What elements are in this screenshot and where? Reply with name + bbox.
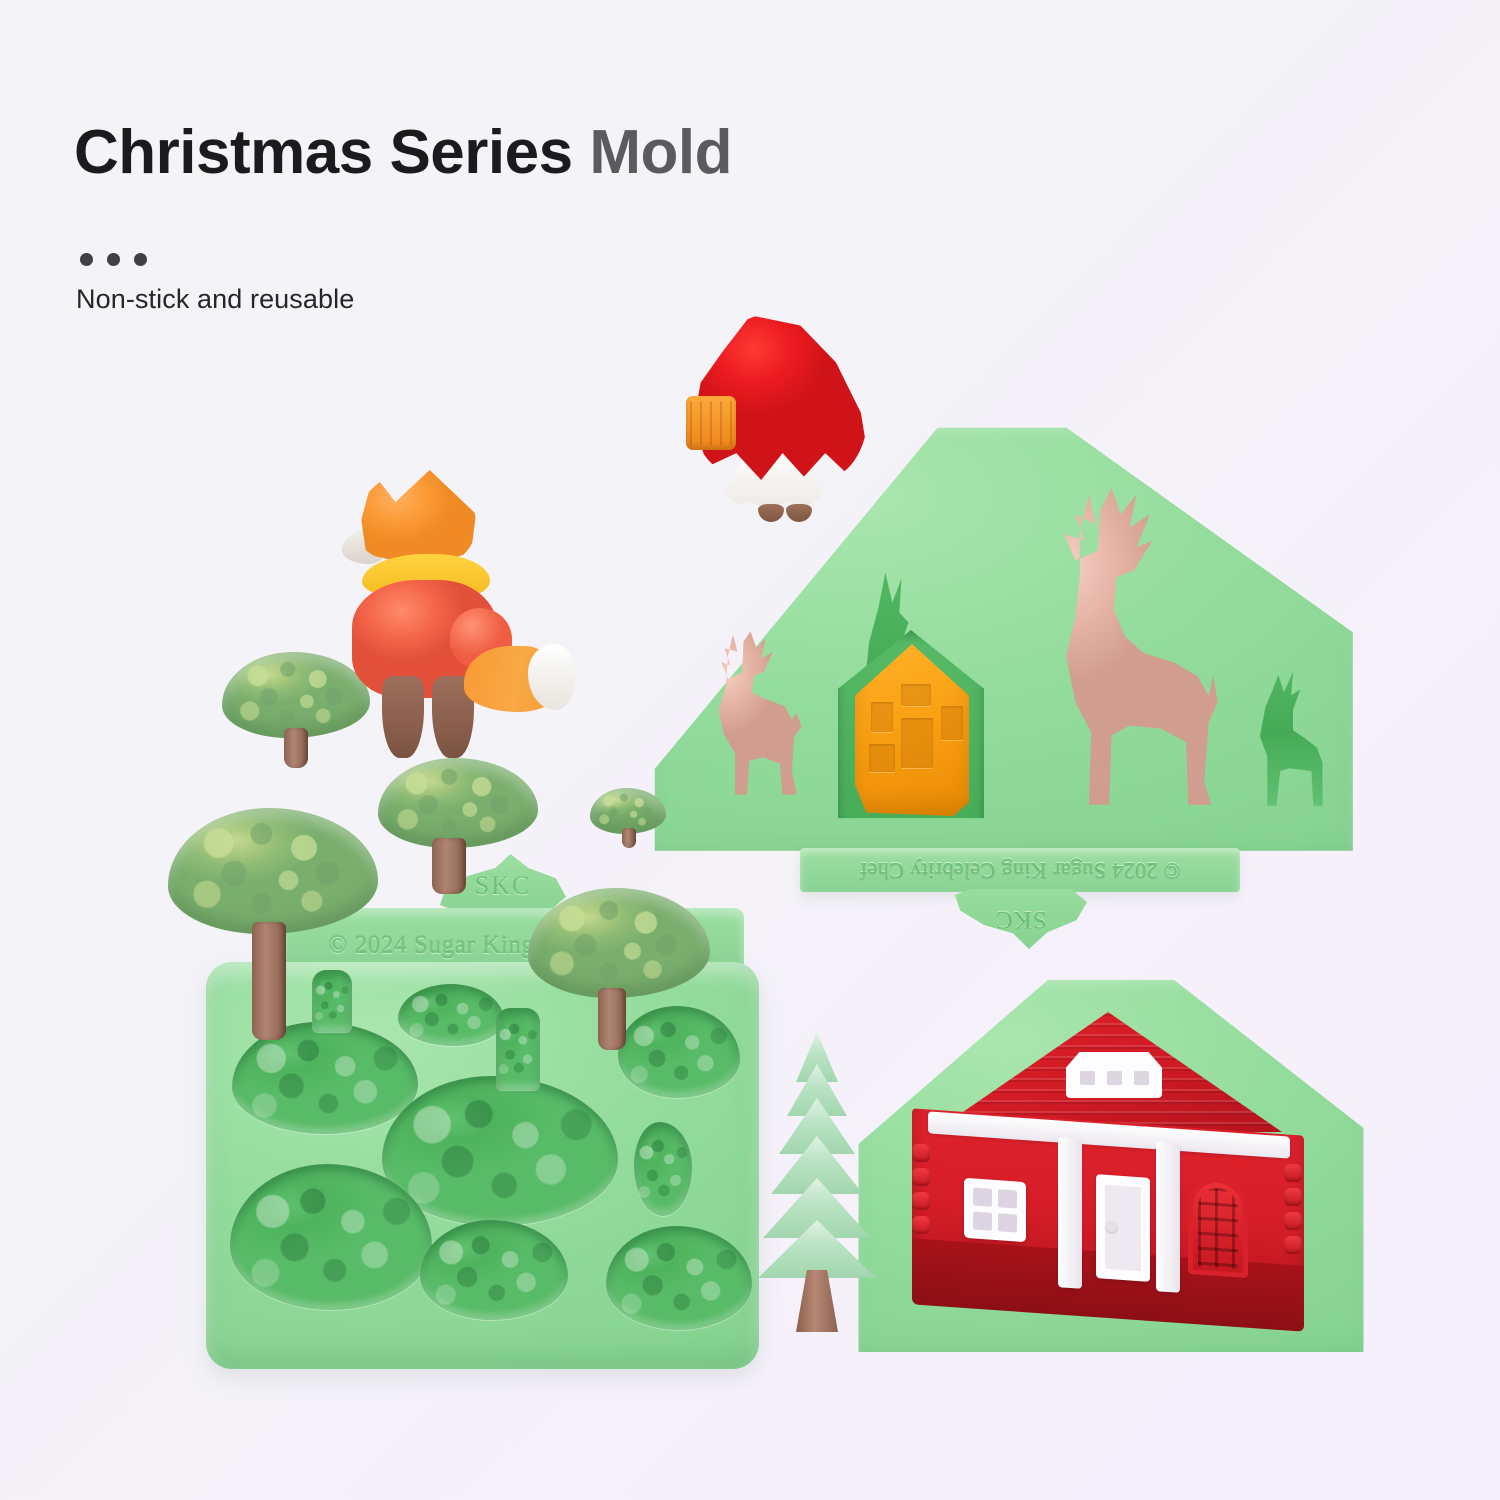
leafy-tree-tiny <box>590 788 666 850</box>
fox-head <box>354 468 476 568</box>
cabin-porch-post <box>1156 1141 1180 1293</box>
page-subtitle: Non-stick and reusable <box>76 284 1074 315</box>
cavity-fawn <box>1236 666 1328 812</box>
cabin-porch-post <box>1058 1137 1082 1289</box>
header: Christmas Series Mold Non-stick and reus… <box>74 120 1074 315</box>
dot-icon <box>134 253 147 266</box>
fir-tree <box>758 1032 876 1332</box>
cavity-bush-bottom-left <box>230 1164 432 1310</box>
cabin-square-window <box>964 1178 1026 1242</box>
page-title-main: Christmas Series <box>74 118 573 187</box>
orange-house-figure <box>855 644 969 816</box>
window-pane <box>973 1211 992 1230</box>
small-stag-shape <box>688 628 806 798</box>
gable-vent-slot <box>1107 1071 1122 1085</box>
cabin-log-end <box>1284 1188 1302 1206</box>
gable-vent-slot <box>1080 1071 1095 1085</box>
window-pane <box>973 1187 992 1206</box>
tree-trunk <box>598 988 626 1050</box>
fir-trunk <box>796 1270 838 1332</box>
hood-shoe <box>758 504 784 522</box>
hood-shoe <box>786 504 812 522</box>
deer-mold-brand-tab: © 2024 Sugar King Celebrity Chef <box>800 848 1240 892</box>
deer-mold-brand-text: © 2024 Sugar King Celebrity Chef <box>800 848 1240 892</box>
tree-trunk <box>284 728 308 768</box>
tree-canopy <box>168 808 378 934</box>
cabin-log-end <box>1284 1164 1302 1182</box>
orange-house-door <box>901 718 933 768</box>
cavity-fir-sliver <box>634 1122 692 1216</box>
page-title: Christmas Series Mold <box>74 120 1074 185</box>
leafy-tree-medium <box>378 758 538 898</box>
cabin-log-end <box>1284 1236 1302 1254</box>
cabin-gable-vent <box>1066 1052 1162 1098</box>
cabin-door <box>1096 1174 1150 1282</box>
fawn-shape <box>1236 666 1328 812</box>
tree-canopy <box>378 758 538 848</box>
dot-separator <box>80 253 1074 266</box>
gable-vent-slot <box>1134 1071 1149 1085</box>
cavity-bush-bottom-right <box>606 1226 752 1330</box>
deer-mold-skc-text: SKC <box>995 905 1047 933</box>
red-riding-hood-character <box>684 312 874 520</box>
leafy-tree-right <box>528 888 710 1054</box>
hood-basket <box>686 396 736 450</box>
cabin-log-end <box>1284 1212 1302 1230</box>
tree-trunk <box>432 838 466 894</box>
deer-mold-skc-tab: SKC <box>955 889 1087 949</box>
red-log-cabin-figure <box>898 1012 1314 1324</box>
orange-house-window <box>901 684 931 706</box>
cavity-small-stag <box>688 628 806 798</box>
leafy-tree-large <box>168 808 378 1044</box>
orange-house-window <box>869 744 895 772</box>
cabin-log-end <box>912 1192 930 1210</box>
large-stag-shape <box>994 478 1220 808</box>
fox-character <box>340 468 540 768</box>
cavity-bush-bottom-center <box>420 1220 568 1320</box>
dot-icon <box>107 253 120 266</box>
product-photo-stage: Christmas Series Mold Non-stick and reus… <box>0 0 1500 1500</box>
page-title-muted: Mold <box>573 118 732 187</box>
orange-house-window <box>871 702 893 732</box>
cavity-large-stag <box>994 478 1220 808</box>
cabin-log-end <box>912 1216 930 1234</box>
window-pane <box>998 1213 1017 1232</box>
tree-trunk <box>622 828 636 848</box>
cabin-log-end <box>912 1168 930 1186</box>
window-pane <box>998 1189 1017 1208</box>
fox-leg <box>382 676 424 758</box>
tree-trunk <box>252 922 286 1040</box>
orange-house-window <box>941 706 963 740</box>
cabin-arched-window <box>1188 1176 1248 1278</box>
cabin-log-end <box>912 1144 930 1162</box>
tree-canopy <box>528 888 710 998</box>
cabin-door-knob <box>1106 1221 1117 1233</box>
dot-icon <box>80 253 93 266</box>
cavity-canopy-small-top <box>398 984 504 1046</box>
